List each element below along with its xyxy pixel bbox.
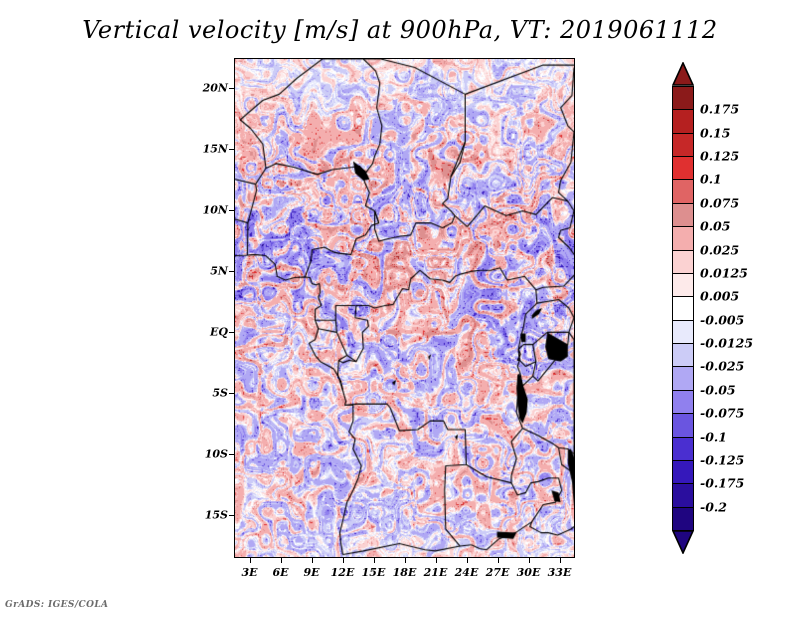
- x-axis-tick-mark: [374, 558, 375, 563]
- y-axis-tick-mark: [229, 454, 234, 455]
- colorbar-tick-label: 0.05: [700, 219, 730, 234]
- colorbar-tick-label: 0.005: [700, 289, 739, 304]
- colorbar-tick-label: 0.125: [700, 149, 739, 164]
- colorbar-tick-label: 0.15: [700, 125, 730, 140]
- colorbar-swatch: [672, 296, 694, 321]
- colorbar-tick-label: -0.0125: [700, 336, 753, 351]
- x-axis-tick-mark: [312, 558, 313, 563]
- x-axis-tick-mark: [498, 558, 499, 563]
- y-axis-tick-mark: [229, 210, 234, 211]
- y-axis-tick-mark: [229, 88, 234, 89]
- y-axis-tick-mark: [229, 271, 234, 272]
- x-axis-tick-mark: [436, 558, 437, 563]
- colorbar-swatch: [672, 179, 694, 204]
- y-axis-tick-label: EQ: [196, 326, 228, 339]
- colorbar-swatch: [672, 507, 694, 532]
- colorbar-tick-label: 0.0125: [700, 265, 748, 280]
- colorbar-swatch: [672, 86, 694, 111]
- colorbar-swatch: [672, 390, 694, 415]
- y-axis-tick-label: 10N: [196, 204, 228, 217]
- y-axis-tick-mark: [229, 149, 234, 150]
- colorbar-arrow-top: [672, 62, 694, 86]
- y-axis-tick-mark: [229, 332, 234, 333]
- x-axis-tick-label: 3E: [241, 566, 257, 579]
- colorbar-tick-label: -0.05: [700, 382, 736, 397]
- colorbar-swatch: [672, 250, 694, 275]
- page-title: Vertical velocity [m/s] at 900hPa, VT: 2…: [0, 16, 800, 44]
- x-axis-tick-label: 12E: [331, 566, 355, 579]
- colorbar-swatch: [672, 133, 694, 158]
- colorbar-tick-label: 0.175: [700, 102, 739, 117]
- colorbar-swatch: [672, 156, 694, 181]
- y-axis-tick-label: 20N: [196, 82, 228, 95]
- country-borders-overlay: [235, 59, 574, 557]
- colorbar-tick-label: -0.175: [700, 476, 744, 491]
- x-axis-tick-mark: [281, 558, 282, 563]
- colorbar-tick-label: -0.2: [700, 499, 727, 514]
- colorbar-tick-label: -0.005: [700, 312, 744, 327]
- colorbar-swatch: [672, 437, 694, 462]
- colorbar-swatch: [672, 320, 694, 345]
- y-axis-tick-label: 5N: [196, 265, 228, 278]
- x-axis-tick-label: 27E: [486, 566, 510, 579]
- y-axis-tick-label: 15S: [196, 509, 228, 522]
- y-axis-tick-label: 15N: [196, 143, 228, 156]
- y-axis-tick-mark: [229, 515, 234, 516]
- colorbar-swatch: [672, 273, 694, 298]
- colorbar-tick-label: -0.025: [700, 359, 744, 374]
- x-axis-tick-mark: [343, 558, 344, 563]
- x-axis-tick-label: 33E: [548, 566, 572, 579]
- x-axis-tick-mark: [467, 558, 468, 563]
- colorbar-tick-label: -0.1: [700, 429, 727, 444]
- y-axis-tick-label: 5S: [196, 387, 228, 400]
- colorbar: 0.1750.150.1250.10.0750.050.0250.01250.0…: [672, 62, 694, 554]
- colorbar-swatch: [672, 109, 694, 134]
- y-axis-tick-mark: [229, 393, 234, 394]
- x-axis-tick-mark: [405, 558, 406, 563]
- colorbar-swatch: [672, 343, 694, 368]
- x-axis-tick-label: 18E: [393, 566, 417, 579]
- x-axis-tick-label: 15E: [362, 566, 386, 579]
- colorbar-swatch: [672, 366, 694, 391]
- y-axis-tick-label: 10S: [196, 448, 228, 461]
- x-axis-tick-label: 30E: [517, 566, 541, 579]
- x-axis-tick-label: 6E: [272, 566, 288, 579]
- colorbar-swatch: [672, 483, 694, 508]
- x-axis-tick-label: 21E: [424, 566, 448, 579]
- colorbar-tick-label: -0.075: [700, 406, 744, 421]
- colorbar-swatch: [672, 413, 694, 438]
- x-axis-tick-mark: [529, 558, 530, 563]
- map-plot-panel: [234, 58, 575, 558]
- colorbar-swatch: [672, 226, 694, 251]
- attribution-footer: GrADS: IGES/COLA: [5, 600, 108, 610]
- colorbar-tick-label: 0.1: [700, 172, 722, 187]
- colorbar-tick-label: -0.125: [700, 452, 744, 467]
- colorbar-tick-label: 0.075: [700, 195, 739, 210]
- x-axis-tick-mark: [560, 558, 561, 563]
- colorbar-arrow-bottom: [672, 530, 694, 554]
- colorbar-tick-label: 0.025: [700, 242, 739, 257]
- colorbar-swatch: [672, 203, 694, 228]
- x-axis-tick-mark: [250, 558, 251, 563]
- colorbar-swatch: [672, 460, 694, 485]
- x-axis-tick-label: 24E: [455, 566, 479, 579]
- x-axis-tick-label: 9E: [303, 566, 319, 579]
